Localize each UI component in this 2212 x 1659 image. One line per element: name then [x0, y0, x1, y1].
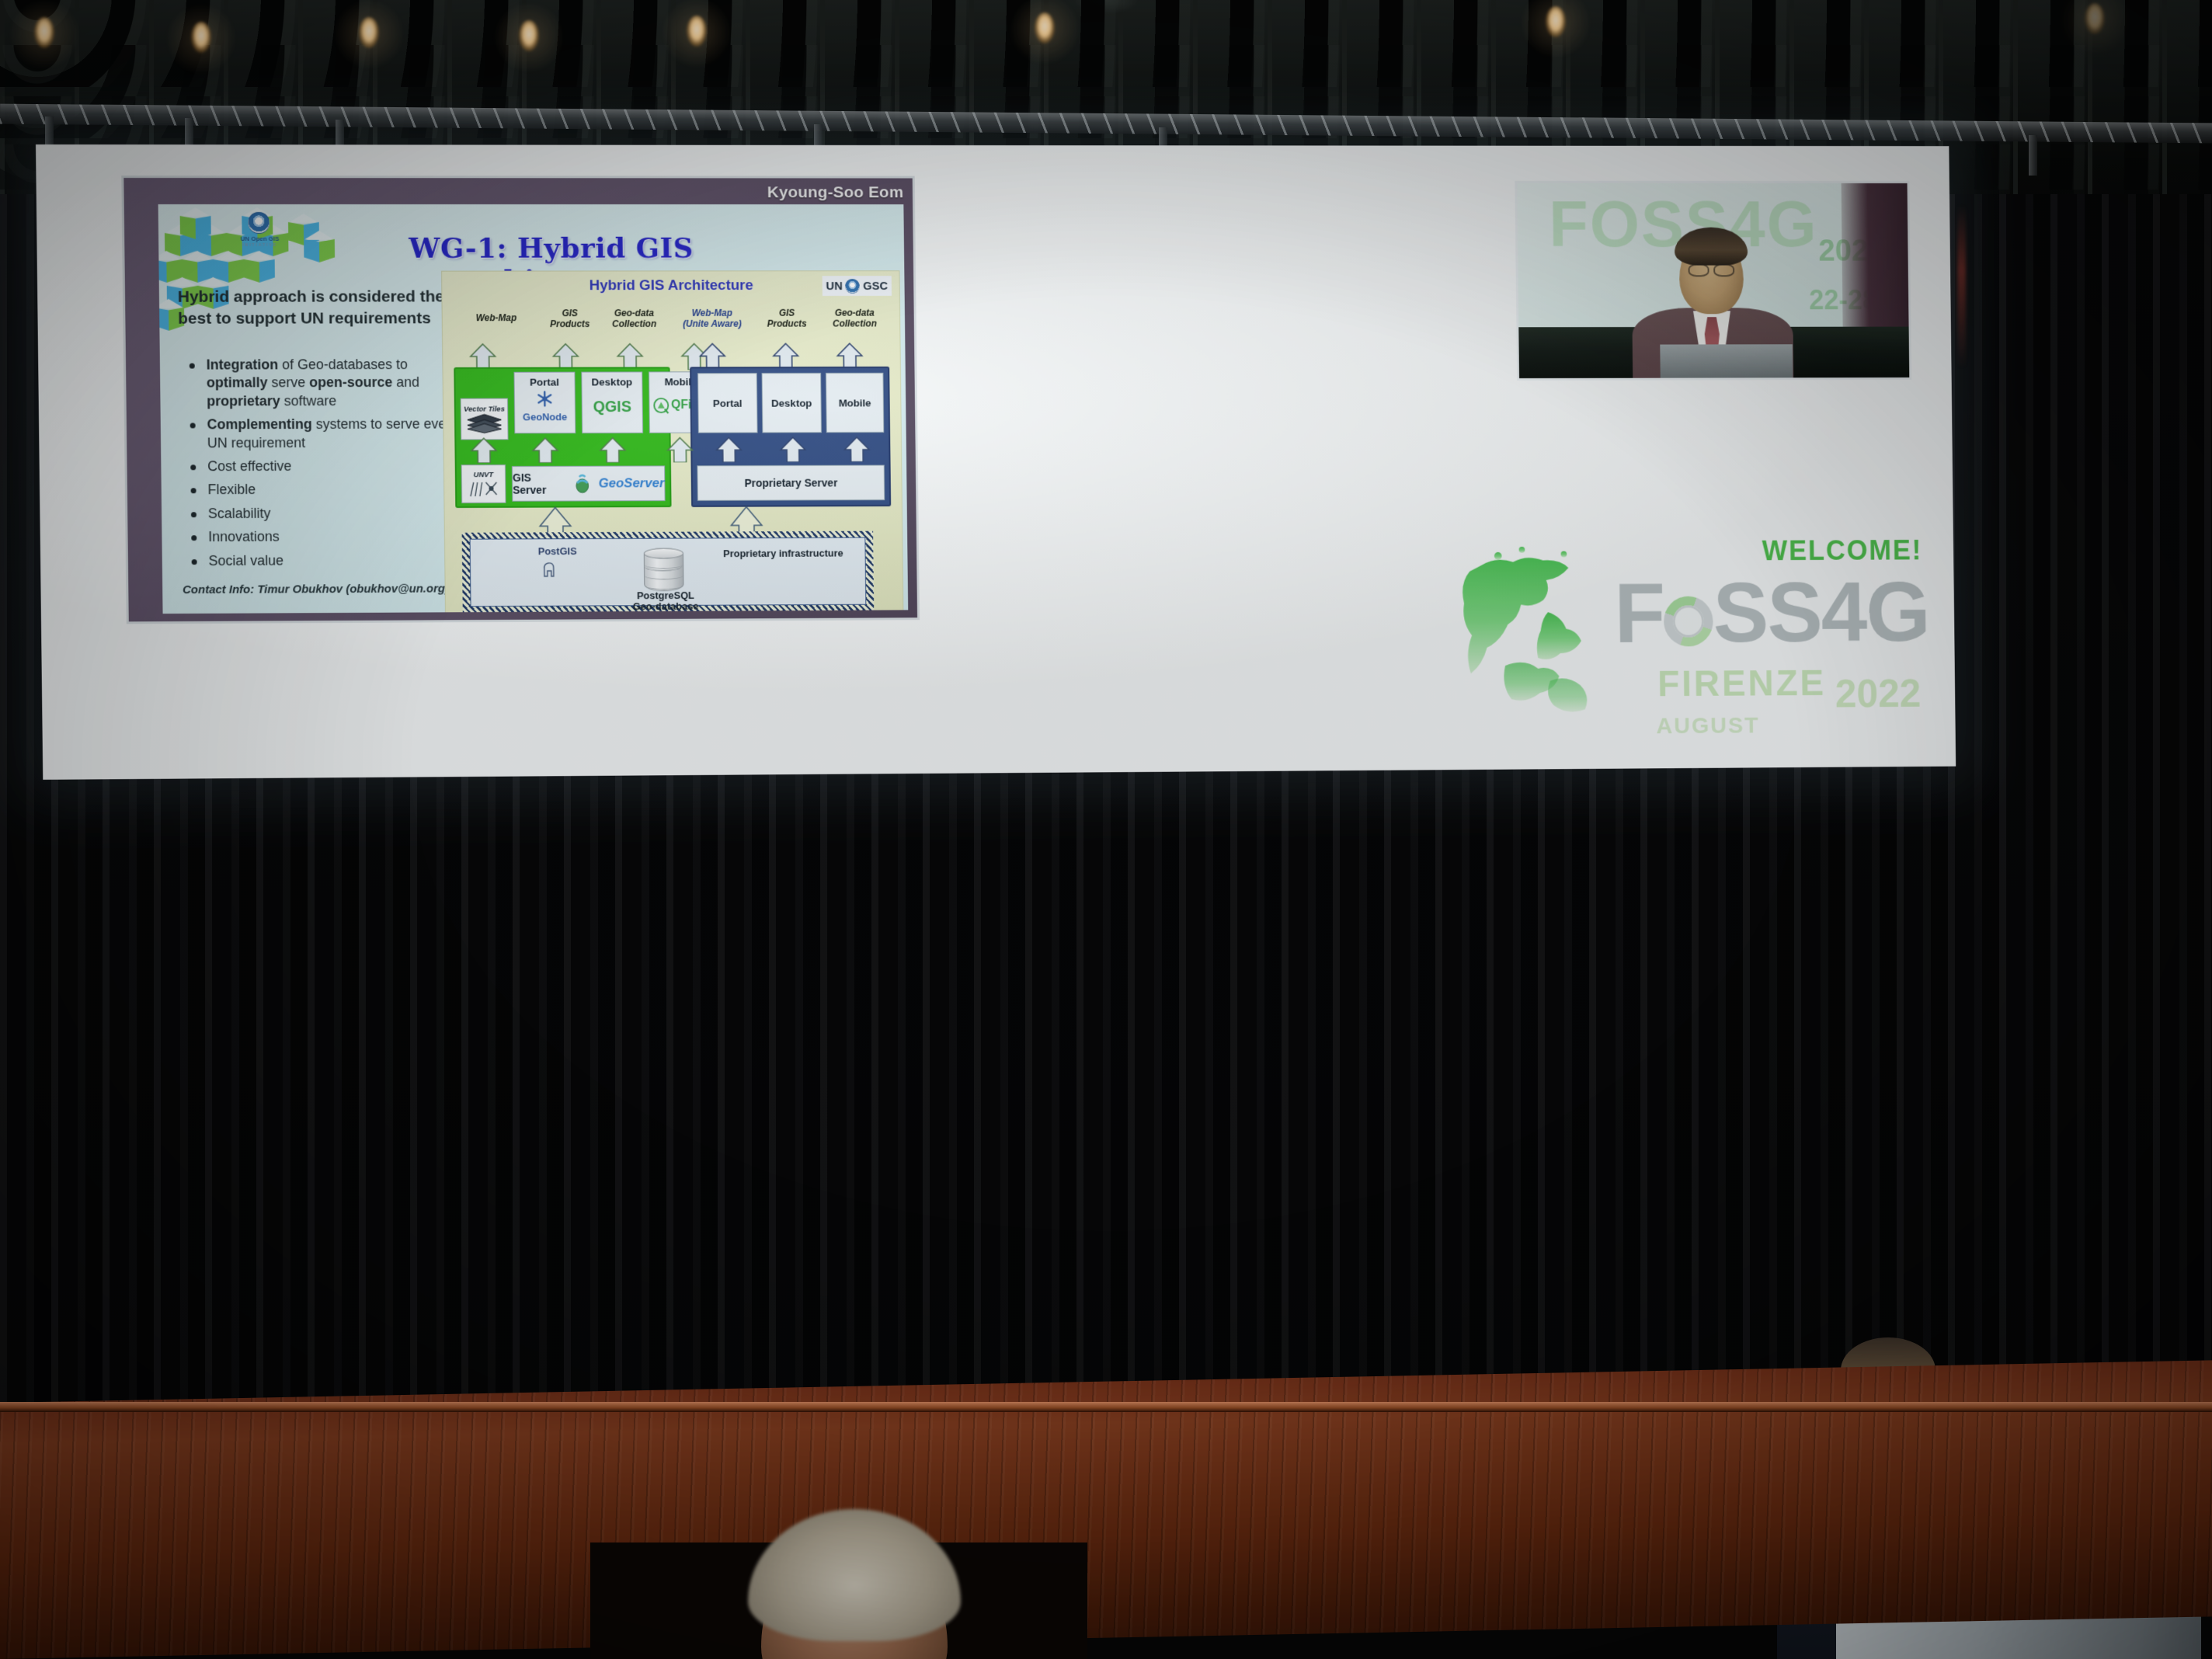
audience-member-head [761, 1533, 948, 1659]
un-gsc-badge: UN GSC [822, 276, 892, 296]
card-portal-proprietary: Portal [697, 373, 758, 433]
ceiling-spotlight [191, 22, 211, 53]
geonode-icon [535, 390, 554, 409]
projection-screen: Kyoung-Soo Eom [36, 144, 1956, 780]
welcome-text: WELCOME! [1762, 534, 1923, 567]
proprietary-infrastructure-label: Proprietary infrastructure [723, 548, 843, 560]
list-item: Cost effective [184, 457, 462, 475]
presentation-slide-frame: Kyoung-Soo Eom [121, 176, 920, 624]
ceiling-spotlight [2085, 3, 2105, 34]
unvt-box: UNVT [461, 464, 506, 503]
foss4g-logo-part3: 4G [1821, 564, 1929, 659]
card-desktop-qgis: Desktop QGIS [581, 371, 643, 433]
card-caption: Desktop [771, 397, 812, 409]
card-mobile-proprietary: Mobile [826, 373, 884, 433]
presentation-slide: Kyoung-Soo Eom [123, 178, 917, 621]
vector-tiles-label: Vector Tiles [464, 405, 505, 413]
ceiling-spotlight [687, 16, 707, 47]
slide-bullet-list: Integration of Geo-databases to optimall… [183, 356, 464, 576]
postgis-elephant-icon [541, 559, 557, 578]
layers-icon [467, 413, 503, 433]
conference-branding: WELCOME! FSS4G FIRENZE 2022 AUGUST [1459, 533, 1938, 763]
column-header-geo-data-collection: Geo-data Collection [600, 308, 668, 329]
unvt-icon [468, 479, 500, 498]
card-caption: Desktop [592, 376, 633, 388]
foss4g-globe-mark [1664, 596, 1713, 647]
video-feed-podium [1660, 345, 1793, 378]
column-header-gis-products: GIS Products [539, 308, 600, 330]
vector-tiles-box: Vector Tiles [461, 398, 509, 440]
conference-city: FIRENZE [1657, 663, 1826, 705]
qfield-icon [652, 397, 670, 414]
card-caption: Mobile [839, 397, 871, 409]
slide-lede: Hybrid approach is considered the best t… [178, 287, 456, 330]
card-portal-geonode: Portal GeoNode [513, 372, 576, 434]
list-item: Complementing systems to serve every UN … [184, 416, 462, 453]
un-emblem-icon [248, 212, 270, 234]
un-badge-right-label: GSC [863, 280, 888, 293]
proprietary-server-label: Proprietary Server [744, 477, 837, 489]
diagram-mid-arrows [443, 434, 903, 463]
ceiling-spotlight [1546, 6, 1566, 37]
list-item: Innovations [185, 527, 463, 547]
truss-upright [2029, 135, 2037, 176]
db-name-line2: Geo-database [621, 600, 710, 612]
gis-server-label: GIS Server [513, 471, 567, 496]
column-header-web-map: Web-Map [459, 313, 533, 324]
ceiling-spotlight [34, 17, 54, 48]
un-emblem-icon [846, 279, 861, 294]
wood-trim [0, 1402, 2212, 1412]
foss4g-logo-part1: F [1614, 565, 1664, 661]
conference-year: 2022 [1835, 671, 1922, 717]
slide-content: UN Open GIS INITIATIVE WG-1: Hybrid GIS … [158, 204, 909, 614]
curtain-gap [1957, 205, 1966, 368]
conference-month: AUGUST [1656, 713, 1759, 739]
card-desktop-proprietary: Desktop [762, 373, 822, 433]
postgis-label: PostGIS [538, 545, 577, 557]
architecture-diagram: Hybrid GIS Architecture UN GSC Web-Map [441, 270, 904, 614]
list-item: Flexible [185, 480, 463, 499]
ceiling-spotlight [359, 17, 379, 48]
proprietary-server-box: Proprietary Server [697, 465, 885, 501]
gis-server-box: GIS Server GeoServer [512, 465, 666, 501]
foss4g-logo: FSS4G [1614, 569, 1929, 656]
column-header-gis-products-proprietary: GIS Products [758, 308, 816, 329]
ceiling-spotlight [519, 20, 539, 51]
projection-surface: Kyoung-Soo Eom [36, 144, 1956, 780]
un-open-gis-label: UN Open GIS [230, 235, 290, 242]
column-header-web-map-unite-aware: Web-Map (Unite Aware) [673, 308, 753, 329]
speaker-name-banner: Kyoung-Soo Eom [767, 181, 904, 204]
unvt-label: UNVT [474, 471, 494, 479]
foss4g-logo-part2: SS [1713, 565, 1822, 660]
un-open-gis-sublabel: INITIATIVE [230, 243, 290, 248]
geoserver-icon [573, 474, 592, 494]
list-item: Scalability [185, 504, 463, 523]
list-item: Integration of Geo-databases to optimall… [183, 356, 461, 411]
card-brand: QGIS [593, 398, 631, 416]
column-header-geo-data-collection-proprietary: Geo-data Collection [819, 308, 890, 329]
card-caption: Portal [530, 377, 559, 388]
list-item: Social value [186, 551, 464, 570]
card-brand: GeoNode [523, 411, 567, 423]
geoserver-brand: GeoServer [599, 475, 665, 491]
un-badge-left-label: UN [826, 280, 842, 293]
geo-database-box: PostGIS PostgreSQL Geo [470, 537, 867, 607]
database-cylinder-icon [644, 548, 684, 591]
card-caption: Portal [713, 397, 743, 409]
speaker-video-feed: FOSS4G 2022 22-28 [1515, 181, 1911, 381]
ceiling-spotlight [1035, 12, 1055, 43]
auditorium-scene: Kyoung-Soo Eom [0, 0, 2212, 1659]
